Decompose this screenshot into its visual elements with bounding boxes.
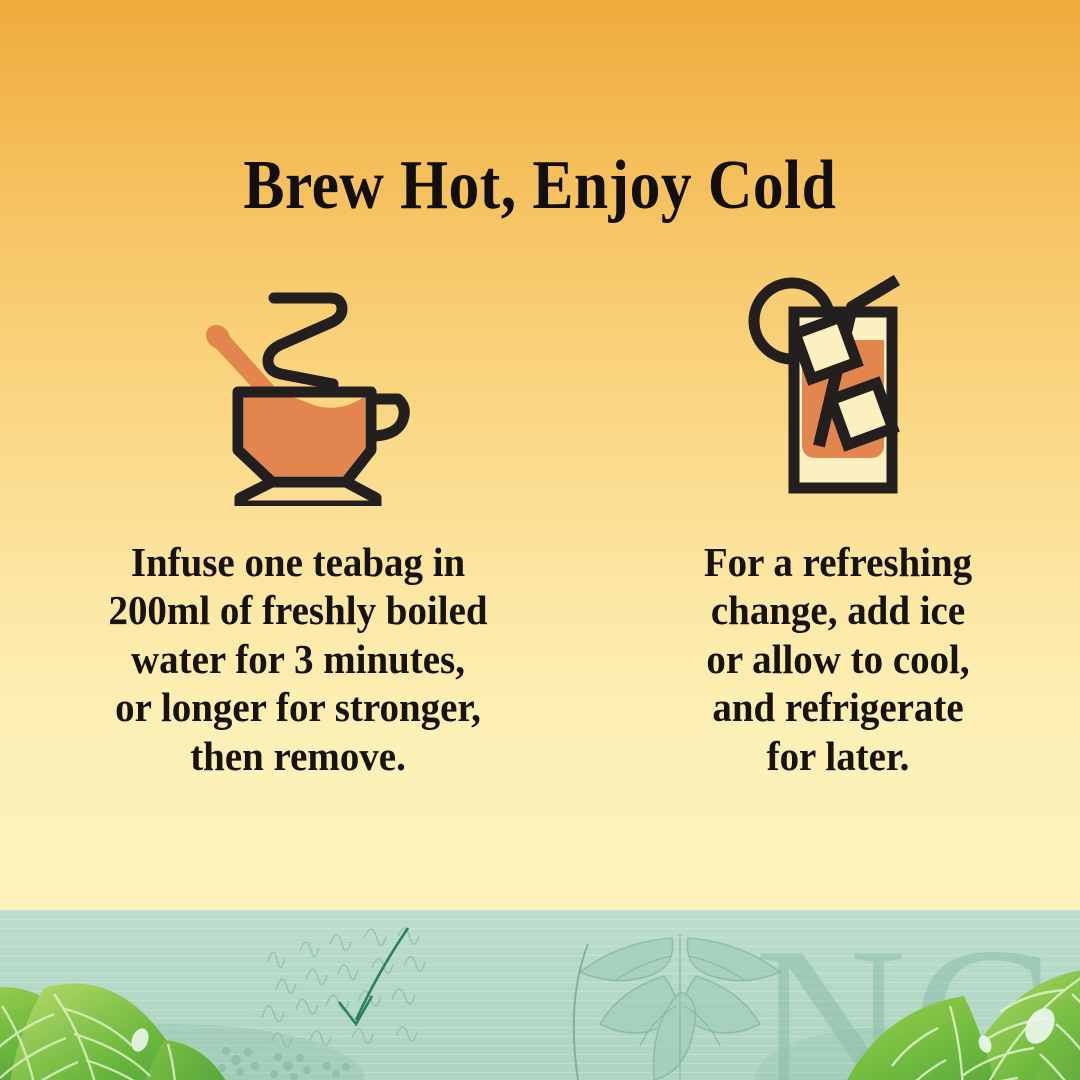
caption-line: then remove. (46, 732, 550, 780)
band-artwork (0, 910, 1080, 1080)
caption-line: for later. (639, 732, 1038, 780)
caption-line: and refrigerate (639, 683, 1038, 731)
hot-brew-caption: Infuse one teabag in 200ml of freshly bo… (46, 538, 550, 780)
instruction-step-hot: Infuse one teabag in 200ml of freshly bo… (0, 258, 596, 780)
botanical-engraving-motif (574, 934, 780, 1080)
instruction-columns: Infuse one teabag in 200ml of freshly bo… (0, 258, 1080, 780)
title-container: Brew Hot, Enjoy Cold (0, 104, 1080, 268)
caption-line: or allow to cool, (639, 635, 1038, 683)
iced-tea-glass-icon-slot (734, 258, 942, 506)
page-title: Brew Hot, Enjoy Cold (244, 151, 837, 221)
instruction-step-cold: For a refreshing change, add ice or allo… (596, 258, 1080, 780)
handwriting-script-motif (262, 928, 425, 1047)
ice-cube-shape (795, 317, 857, 379)
caption-line: or longer for stronger, (46, 683, 550, 731)
caption-line: For a refreshing (639, 538, 1038, 586)
poster-canvas: Brew Hot, Enjoy Cold (0, 0, 1080, 1080)
hot-teacup-icon-slot (164, 258, 432, 506)
hot-teacup-icon (202, 266, 432, 506)
caption-line: water for 3 minutes, (46, 635, 550, 683)
ice-cube-shape (831, 383, 893, 445)
caption-line: 200ml of freshly boiled (46, 586, 550, 634)
mint-leaf-photo-right (832, 969, 1080, 1080)
caption-line: Infuse one teabag in (46, 538, 550, 586)
iced-tea-glass-icon (734, 266, 934, 506)
cold-serve-caption: For a refreshing change, add ice or allo… (639, 538, 1038, 780)
caption-line: change, add ice (639, 586, 1038, 634)
mint-leaf-photo-band: NG (0, 910, 1080, 1080)
